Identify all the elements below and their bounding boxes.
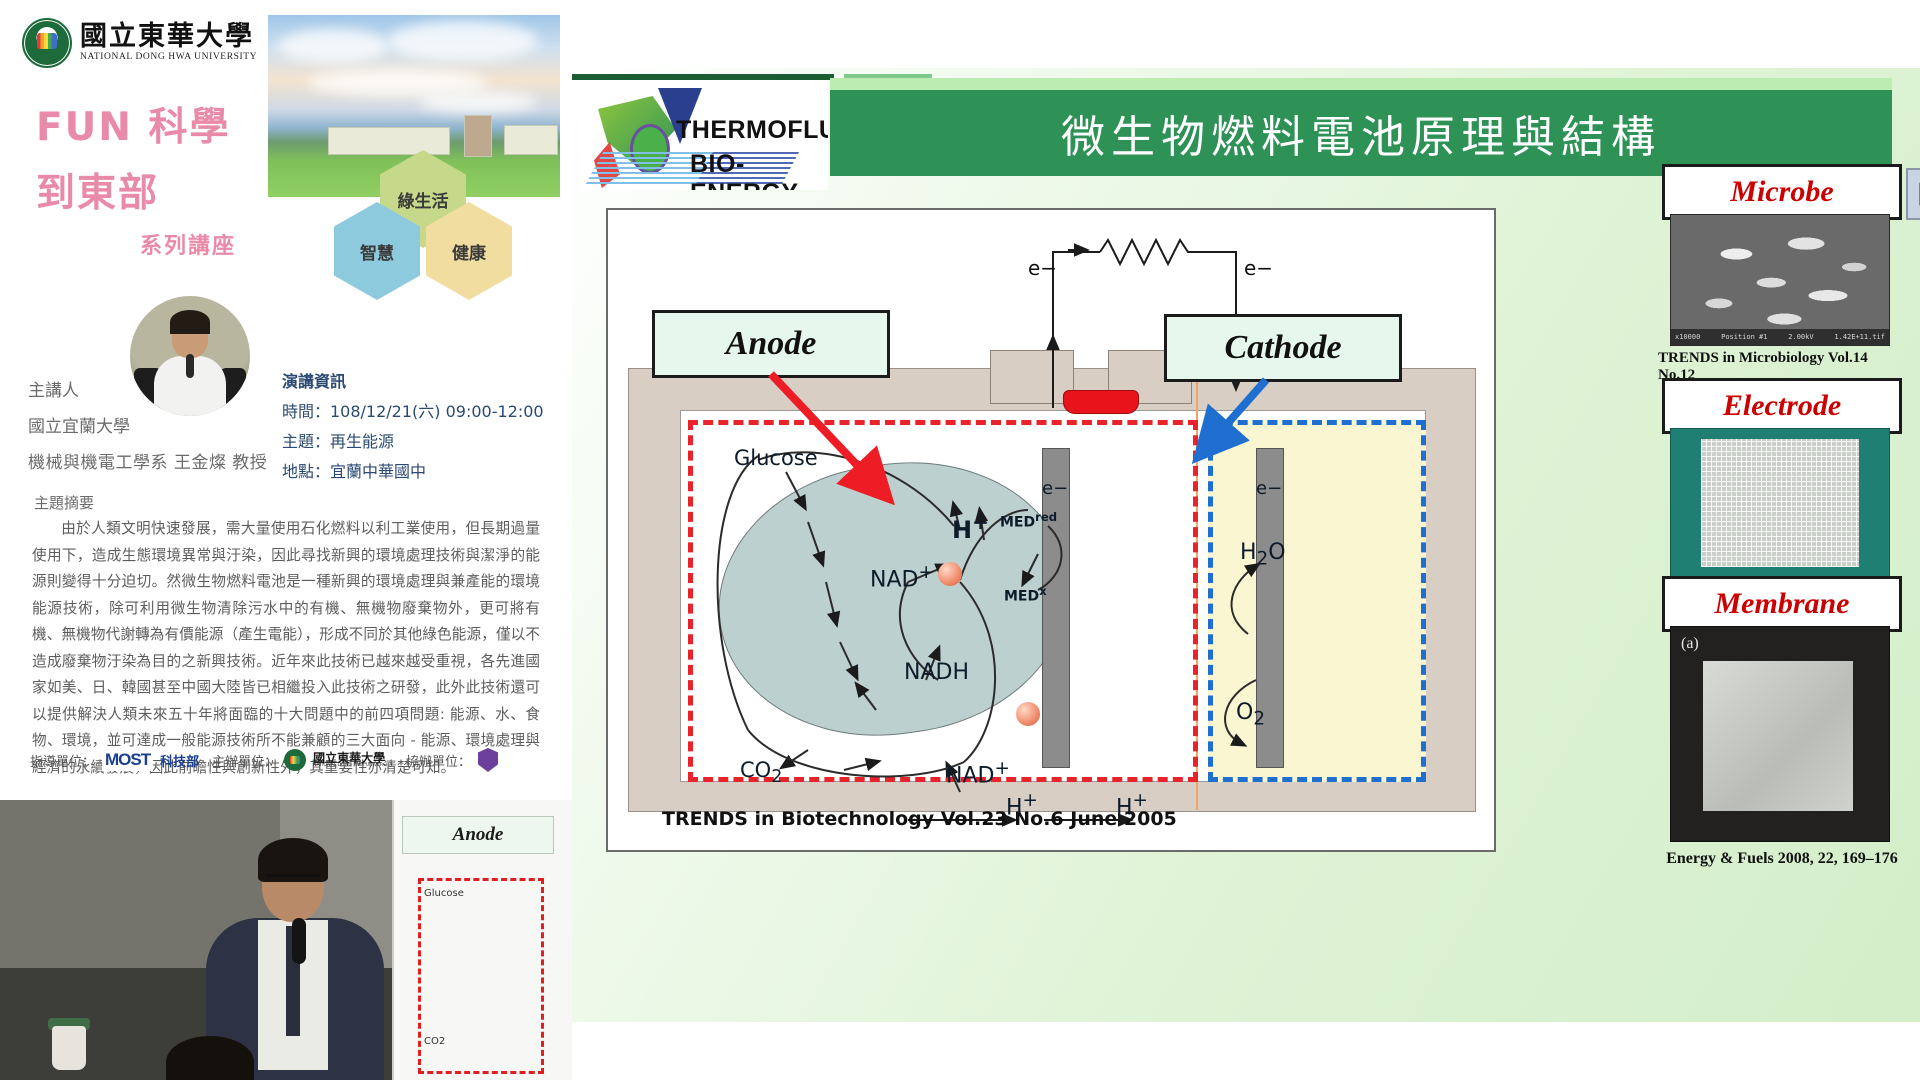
presentation-screen: 國立東華大學 NATIONAL DONG HWA UNIVERSITY FUN …	[0, 0, 1920, 1080]
most-logo: MOST	[102, 749, 153, 771]
event-info-heading: 演講資訊	[282, 368, 346, 392]
sem-filename: 1.42E+11.tif	[1834, 333, 1885, 341]
thermofluid-bioenergy-logo: THERMOFLUID BIO-ENERGY	[580, 80, 828, 190]
membrane-sheet	[1703, 661, 1853, 811]
event-place: 地點：宜蘭中華國中	[282, 458, 426, 482]
host-logo: 國立東華大學 NATIONAL DONG HWA UNIVERSITY	[313, 752, 393, 769]
host-seal-icon	[284, 749, 306, 771]
sem-position: Position #1	[1721, 333, 1767, 341]
panel-label-electrode: Electrode	[1662, 378, 1902, 434]
mediator-bead-upper	[938, 562, 962, 586]
projected-co2-label: CO2	[424, 1036, 445, 1047]
logo-text-line1: THERMOFLUID	[676, 116, 828, 145]
sem-scale-bar: x10000 Position #1 2.00kV 1.42E+11.tif	[1671, 329, 1889, 345]
electrode-photo	[1670, 428, 1890, 578]
university-logo: 國立東華大學 NATIONAL DONG HWA UNIVERSITY	[22, 18, 257, 68]
slide-canvas: 微生物燃料電池原理與結構 THERMOFLUID BIO-ENERGY	[572, 68, 1920, 1022]
label-nadh: NADH	[904, 660, 969, 685]
speaker-role-label: 主講人	[28, 376, 79, 401]
energy-fuels-citation: Energy & Fuels 2008, 22, 169–176	[1642, 850, 1920, 868]
next-slide-button[interactable]	[1906, 168, 1920, 220]
poster-subtitle: 系列講座	[140, 228, 236, 260]
label-med-red: MEDred	[1000, 510, 1057, 531]
event-poster: 國立東華大學 NATIONAL DONG HWA UNIVERSITY FUN …	[0, 0, 572, 1080]
panel-label-membrane: Membrane	[1662, 576, 1902, 632]
coorg-label: 協辦單位：	[406, 751, 471, 770]
label-h2o: H2O	[1240, 540, 1286, 569]
mediator-bead-lower	[1016, 702, 1040, 726]
most-abbr: MOST	[105, 750, 150, 770]
event-topic: 主題：再生能源	[282, 428, 394, 452]
lecture-room-photo: Anode Glucose CO2	[0, 800, 572, 1080]
label-nad-plus-1: NAD+	[870, 562, 934, 592]
membrane-panel-tag: (a)	[1681, 635, 1699, 653]
theme-hexagons: 綠生活 智慧 健康	[318, 150, 533, 290]
projected-glucose-label: Glucose	[424, 888, 464, 899]
sem-voltage: 2.00kV	[1788, 333, 1813, 341]
logo-text-line2: BIO-ENERGY	[690, 150, 828, 190]
projected-anode-label: Anode	[402, 816, 554, 854]
university-name-cn: 國立東華大學	[80, 23, 257, 50]
abstract-body: 由於人類文明快速發展，需大量使用石化燃料以利工業使用，但長期過量使用下，造成生態…	[32, 516, 540, 781]
poster-title-line1: FUN 科學	[36, 96, 231, 152]
speaker-organization: 國立宜蘭大學	[28, 412, 130, 437]
speaker-department-name: 機械與機電工學系 王金燦 教授	[28, 448, 267, 473]
university-name-en: NATIONAL DONG HWA UNIVERSITY	[80, 53, 257, 63]
label-h-plus-top: H+	[952, 510, 989, 544]
abstract-heading: 主題摘要	[34, 492, 94, 513]
host-name: 國立東華大學	[313, 752, 393, 764]
label-nad-plus-2: NAD+	[946, 758, 1010, 788]
diagram-citation: TRENDS in Biotechnology Vol.23 No.6 June…	[662, 808, 1177, 830]
label-o2: O2	[1236, 700, 1265, 729]
host-name-en: NATIONAL DONG HWA UNIVERSITY	[313, 764, 393, 769]
event-time: 時間：108/12/21(六) 09:00-12:00	[282, 398, 544, 422]
university-seal-icon	[22, 18, 72, 68]
coorg-shield-icon	[478, 748, 498, 772]
host-label: 主辦單位：	[212, 751, 277, 770]
label-glucose: Glucose	[734, 446, 818, 470]
poster-title-line2: 到東部	[36, 162, 159, 218]
advisor-label: 指導單位：	[30, 751, 95, 770]
label-med-x: MEDx	[1004, 584, 1047, 605]
label-co2: CO2	[740, 758, 782, 787]
electrode-mesh-texture	[1701, 439, 1859, 567]
panel-label-microbe: Microbe	[1662, 164, 1902, 220]
mfc-diagram: e− e− Anode Cathode e− e−	[606, 208, 1496, 852]
sem-magnification: x10000	[1675, 333, 1700, 341]
membrane-photo: (a)	[1670, 626, 1890, 842]
most-name: 科技部	[160, 751, 199, 770]
microbe-sem-image: x10000 Position #1 2.00kV 1.42E+11.tif	[1670, 214, 1890, 346]
speaker-avatar	[130, 296, 250, 416]
sponsor-row: 指導單位： MOST 科技部 主辦單位： 國立東華大學 NATIONAL DON…	[30, 748, 498, 772]
